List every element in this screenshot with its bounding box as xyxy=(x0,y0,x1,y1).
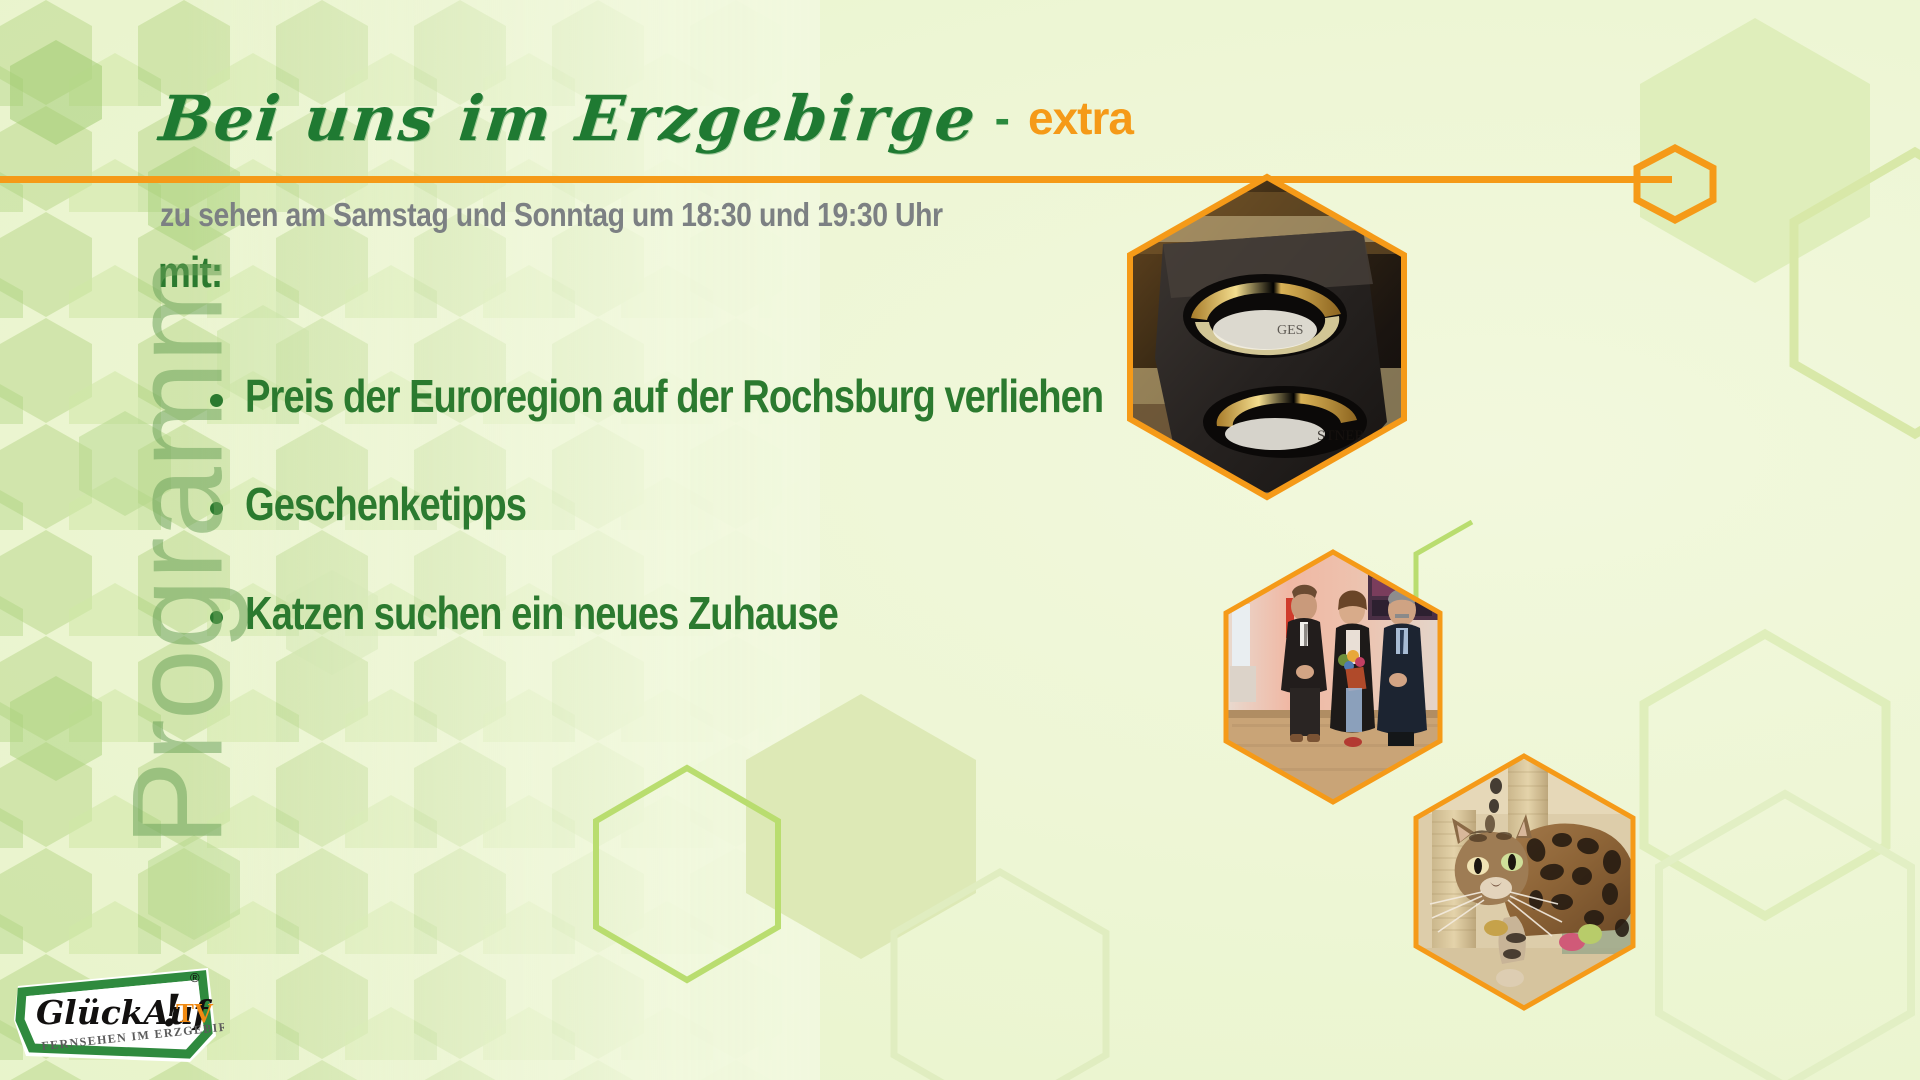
slate-canvas: Bei uns im Erzgebirge - extra zu sehen a… xyxy=(0,0,1920,1080)
title-separator: - xyxy=(995,91,1010,145)
list-item-label: Katzen suchen ein neues Zuhause xyxy=(245,589,838,637)
title-extra-badge: extra xyxy=(1028,91,1133,145)
broadcast-times: zu sehen am Samstag und Sonntag um 18:30… xyxy=(160,196,943,234)
decorative-hexagon-outline-topright xyxy=(1790,148,1920,438)
decorative-hexagon-outline-bottom xyxy=(890,868,1110,1080)
logo-registered-mark: ® xyxy=(190,970,200,985)
with-label: mit: xyxy=(158,248,222,298)
title-main: Bei uns im Erzgebirge xyxy=(156,82,980,155)
list-item-label: Geschenketipps xyxy=(245,480,526,528)
topic-list: Preis der Euroregion auf der Rochsburg v… xyxy=(210,372,1210,697)
list-item-label: Preis der Euroregion auf der Rochsburg v… xyxy=(245,372,1103,420)
orange-hexagon-endcap-icon xyxy=(1630,144,1720,229)
bullet-dot-icon xyxy=(210,502,223,515)
list-item: Preis der Euroregion auf der Rochsburg v… xyxy=(210,372,1210,420)
cat-photo xyxy=(1412,752,1637,1012)
orange-divider-rule xyxy=(0,176,1672,183)
list-item: Katzen suchen ein neues Zuhause xyxy=(210,589,1210,637)
wedding-rings-photo: STNER GES xyxy=(1125,172,1410,502)
bullet-dot-icon xyxy=(210,611,223,624)
decorative-hexagon-outline-center xyxy=(592,764,782,984)
page-title: Bei uns im Erzgebirge - extra xyxy=(160,82,1133,155)
decorative-hexagon-outline-bottomright xyxy=(1655,790,1915,1080)
bullet-dot-icon xyxy=(210,394,223,407)
award-ceremony-photo xyxy=(1222,548,1444,806)
svg-text:STNER: STNER xyxy=(1317,428,1365,444)
list-item: Geschenketipps xyxy=(210,480,1210,528)
glueckauf-tv-logo[interactable]: GlückAuf ! TV ® FERNSEHEN IM ERZGEBIRGE xyxy=(12,962,224,1070)
svg-text:GES: GES xyxy=(1277,323,1303,338)
